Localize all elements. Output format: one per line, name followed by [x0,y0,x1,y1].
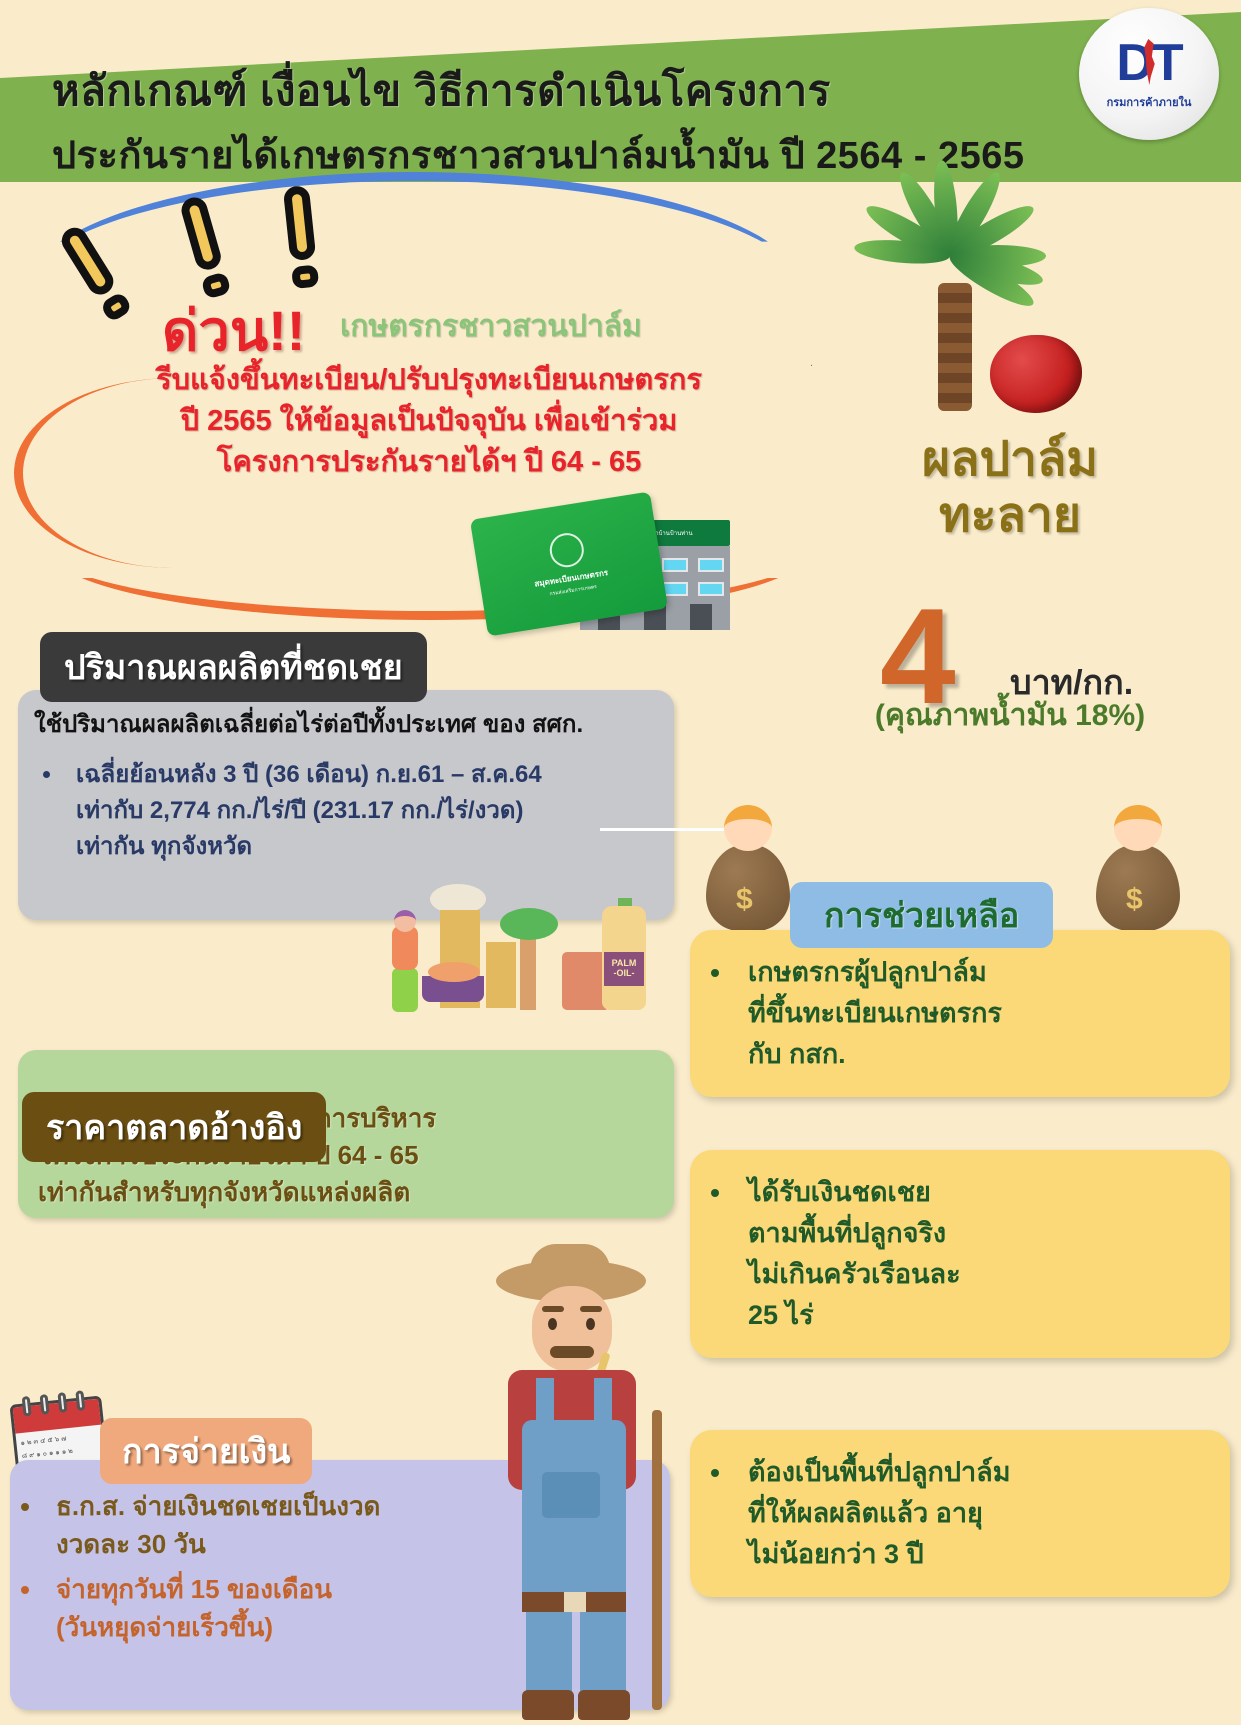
palm-price-title: ผลปาล์ม ทะลาย [790,432,1230,543]
assistance-card-1-line3: กับ กสก. [748,1039,846,1069]
assistance-card-3: ต้องเป็นพื้นที่ปลูกปาล์ม ที่ให้ผลผลิตแล้… [690,1430,1230,1597]
urgent-message-line2: ปี 2565 ให้ข้อมูลเป็นปัจจุบัน เพื่อเข้าร… [84,401,774,442]
page-header: หลักเกณฑ์ เงื่อนไข วิธีการดำเนินโครงการ … [0,0,1241,182]
small-palm-trunk [520,930,536,1010]
dollar-sign-icon-right: $ [1126,883,1143,917]
urgent-message-line1: รีบแจ้งขึ้นทะเบียน/ปรับปรุงทะเบียนเกษตรก… [84,360,774,401]
assistance-card-2: ได้รับเงินชดเชย ตามพื้นที่ปลูกจริง ไม่เก… [690,1150,1230,1358]
payment-bullet-1-line2: งวดละ 30 วัน [56,1529,206,1559]
page-title-line2: ประกันรายได้เกษตรกรชาวสวนปาล์มน้ำมัน ปี … [52,124,1024,182]
palm-oil-production-illustration: PALM -OIL- [370,880,670,1040]
farmer-belt-buckle [564,1592,586,1612]
assistance-card-1-list: เกษตรกรผู้ปลูกปาล์ม ที่ขึ้นทะเบียนเกษตรก… [734,952,1206,1075]
assistance-card-3-line1: ต้องเป็นพื้นที่ปลูกปาล์ม [748,1457,1011,1487]
assistance-card-2-list: ได้รับเงินชดเชย ตามพื้นที่ปลูกจริง ไม่เก… [734,1172,1206,1336]
small-palm-crown [500,908,558,940]
payment-bullet-1-line1: ธ.ก.ส. จ่ายเงินชดเชยเป็นงวด [56,1491,380,1521]
palm-price-title-line1: ผลปาล์ม [790,432,1230,488]
kid-head-right [1114,805,1162,851]
quantity-bullet-1: เฉลี่ยย้อนหลัง 3 ปี (36 เดือน) ก.ย.61 – … [64,757,674,865]
worker-legs [392,968,418,1012]
urgent-callout: ด่วน!! เกษตรกรชาวสวนปาล์ม รีบแจ้งขึ้นทะเ… [10,178,820,568]
quantity-bullet-1-text: เฉลี่ยย้อนหลัง 3 ปี (36 เดือน) ก.ย.61 – … [76,761,542,788]
assistance-card-2-line2: ตามพื้นที่ปลูกจริง [748,1218,946,1248]
payment-bullet-2-line2: (วันหยุดจ่ายเร็วขึ้น) [56,1612,273,1642]
palm-oil-bottle-icon: PALM -OIL- [602,906,646,1010]
farmer-moustache [550,1346,594,1358]
assistance-card-2-line1: ได้รับเงินชดเชย [748,1177,931,1207]
assistance-card-2-line4: 25 ไร่ [748,1300,814,1330]
palm-price-quality-note: (คุณภาพน้ำมัน 18%) [790,692,1230,739]
worker-body [392,926,418,970]
assistance-card-1-line2: ที่ขึ้นทะเบียนเกษตรกร [748,998,1002,1028]
assistance-card-2-item: ได้รับเงินชดเชย ตามพื้นที่ปลูกจริง ไม่เก… [734,1172,1206,1336]
bottle-label-line2: -OIL- [614,969,635,979]
section-heading-payment: การจ่ายเงิน [100,1418,312,1484]
section-heading-quantity: ปริมาณผลผลิตที่ชดเชย [40,632,427,702]
palm-fruit-bunch-icon [990,335,1082,413]
urgent-message-line3: โครงการประกันรายได้ฯ ปี 64 - 65 [84,442,774,483]
dit-logo-letters: DT [1116,37,1181,89]
assistance-card-1-item: เกษตรกรผู้ปลูกปาล์ม ที่ขึ้นทะเบียนเกษตรก… [734,952,1206,1075]
assistance-card-3-line3: ไม่น้อยกว่า 3 ปี [748,1539,924,1569]
factory-secondary-icon [486,942,516,1008]
assistance-card-3-line2: ที่ให้ผลผลิตแล้ว อายุ [748,1498,983,1528]
palm-price-title-line2: ทะลาย [790,488,1230,544]
bottle-label: PALM -OIL- [604,952,644,986]
assistance-card-1: เกษตรกรผู้ปลูกปาล์ม ที่ขึ้นทะเบียนเกษตรก… [690,930,1230,1097]
payment-bullet-2-line1: จ่ายทุกวันที่ 15 ของเดือน [56,1574,332,1604]
assistance-card-3-list: ต้องเป็นพื้นที่ปลูกปาล์ม ที่ให้ผลผลิตแล้… [734,1452,1206,1575]
quantity-bullet-list: เฉลี่ยย้อนหลัง 3 ปี (36 เดือน) ก.ย.61 – … [64,757,674,865]
urgent-message: รีบแจ้งขึ้นทะเบียน/ปรับปรุงทะเบียนเกษตรก… [84,360,774,484]
palm-fruit-pile [428,962,480,982]
farmer-pocket [542,1472,600,1518]
assistance-card-1-line1: เกษตรกรผู้ปลูกปาล์ม [748,957,987,987]
section-heading-reference-price: ราคาตลาดอ้างอิง [22,1092,326,1162]
reference-price-line3: เท่ากันสำหรับทุกจังหวัดแหล่งผลิต [38,1174,654,1211]
assistance-card-3-item: ต้องเป็นพื้นที่ปลูกปาล์ม ที่ให้ผลผลิตแล้… [734,1452,1206,1575]
urgent-audience-label: เกษตรกรชาวสวนปาล์ม [340,303,642,350]
worker-head [394,910,416,932]
dit-logo-subtitle: กรมการค้าภายใน [1107,93,1192,111]
kid-head-left [724,805,772,851]
moneybag-kid-left: $ [700,805,796,935]
assistance-card-2-line3: ไม่เกินครัวเรือนละ [748,1259,961,1289]
card-seal-icon [547,531,586,570]
dit-logo: DT กรมการค้าภายใน [1079,8,1219,140]
quantity-bullet-2-text: เท่ากับ 2,774 กก./ไร่/ปี (231.17 กก./ไร่… [76,797,523,824]
moneybag-kid-right: $ [1090,805,1186,935]
dollar-sign-icon-left: $ [736,883,753,917]
walking-stick-icon [652,1410,662,1710]
section-heading-assistance: การช่วยเหลือ [790,882,1053,948]
quantity-bullet-3-text: เท่ากัน ทุกจังหวัด [76,833,252,860]
page-title-line1: หลักเกณฑ์ เงื่อนไข วิธีการดำเนินโครงการ [52,58,831,124]
farmer-illustration [470,1260,680,1720]
